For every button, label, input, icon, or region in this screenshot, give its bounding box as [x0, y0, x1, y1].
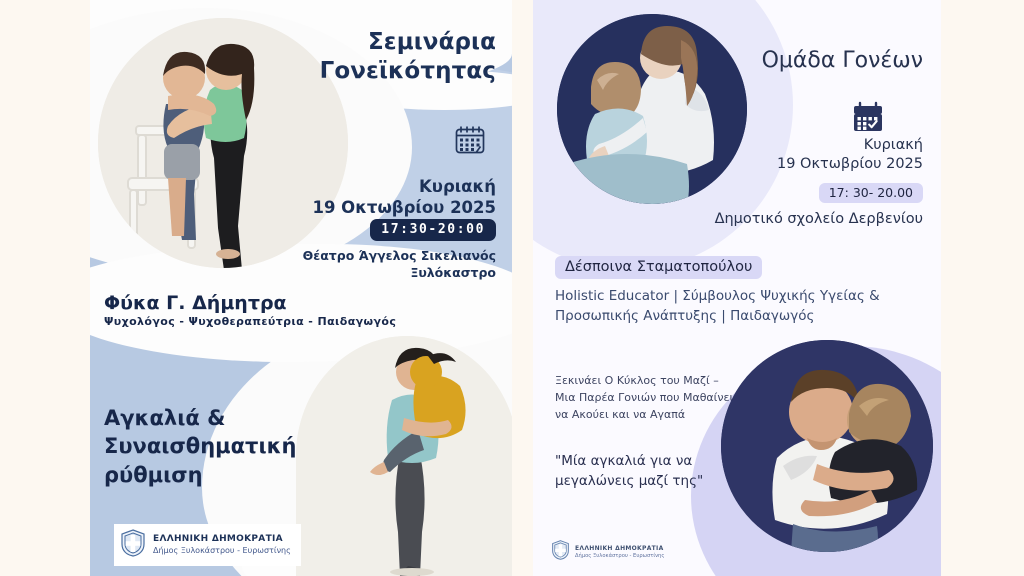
left-poster: Σεμινάρια Γονεϊκότητας: [90, 0, 512, 576]
poster-pair-canvas: Σεμινάρια Γονεϊκότητας: [0, 0, 1024, 576]
right-date-full: 19 Οκτωβρίου 2025: [683, 155, 923, 174]
right-poster-venue: Δημοτικό σχολείο Δερβενίου: [643, 211, 923, 227]
right-logo-line-2: Δήμος Ξυλοκάστρου - Ευρωστίνης: [575, 553, 664, 560]
left-logo-line-1: ΕΛΛΗΝΙΚΗ ΔΗΜΟΚΡΑΤΙΑ: [153, 534, 291, 545]
right-photo-mother-embracing-child: [557, 14, 747, 204]
right-role-line-1: Holistic Educator | Σύμβουλος Ψυχικής Υγ…: [555, 287, 885, 307]
greek-coat-of-arms-icon: [551, 540, 570, 564]
left-photo-parent-carrying-child: [296, 336, 512, 576]
left-poster-venue: Θέατρο Άγγελος Σικελιανός Ξυλόκαστρο: [246, 247, 496, 282]
right-date-weekday: Κυριακή: [683, 136, 923, 155]
left-poster-title: Σεμινάρια Γονεϊκότητας: [266, 28, 496, 85]
left-poster-municipality-logo: ΕΛΛΗΝΙΚΗ ΔΗΜΟΚΡΑΤΙΑ Δήμος Ξυλοκάστρου - …: [114, 524, 301, 566]
calendar-check-filled-icon: [851, 100, 885, 138]
right-poster-municipality-logo: ΕΛΛΗΝΙΚΗ ΔΗΜΟΚΡΑΤΙΑ Δήμος Ξυλοκάστρου - …: [551, 540, 664, 564]
right-poster-speaker-role: Holistic Educator | Σύμβουλος Ψυχικής Υγ…: [555, 287, 885, 326]
left-logo-text: ΕΛΛΗΝΙΚΗ ΔΗΜΟΚΡΑΤΙΑ Δήμος Ξυλοκάστρου - …: [153, 534, 291, 555]
right-logo-line-1: ΕΛΛΗΝΙΚΗ ΔΗΜΟΚΡΑΤΙΑ: [575, 545, 664, 553]
right-poster: Ομάδα Γονέων Κυριακή 19 Οκτωβρίου 2025 1…: [533, 0, 941, 576]
left-poster-speaker-name: Φύκα Γ. Δήμητρα: [104, 292, 404, 315]
right-photo-two-people-embracing: [721, 340, 933, 552]
right-desc-line-1: Ξεκινάει Ο Κύκλος του Μαζί –: [555, 372, 755, 389]
right-logo-text: ΕΛΛΗΝΙΚΗ ΔΗΜΟΚΡΑΤΙΑ Δήμος Ξυλοκάστρου - …: [575, 545, 664, 559]
left-poster-time-badge: 17:30-20:00: [370, 219, 496, 241]
left-poster-speaker-role: Ψυχολόγος - Ψυχοθεραπεύτρια - Παιδαγωγός: [104, 315, 424, 328]
left-date-full: 19 Οκτωβρίου 2025: [266, 197, 496, 218]
left-poster-date: Κυριακή 19 Οκτωβρίου 2025: [266, 176, 496, 218]
right-poster-speaker-name-badge: Δέσποινα Σταματοπούλου: [555, 256, 762, 279]
right-desc-line-2: Μια Παρέα Γονιών που Μαθαίνει: [555, 389, 755, 406]
left-title-line-1: Σεμινάρια: [266, 28, 496, 57]
right-poster-time-badge: 17: 30- 20.00: [819, 183, 923, 203]
right-poster-title: Ομάδα Γονέων: [693, 48, 923, 74]
left-date-weekday: Κυριακή: [266, 176, 496, 197]
greek-coat-of-arms-icon: [120, 529, 146, 561]
right-role-line-2: Προσωπικής Ανάπτυξης | Παιδαγωγός: [555, 307, 885, 327]
left-title-line-2: Γονεϊκότητας: [266, 57, 496, 86]
left-venue-line-2: Ξυλόκαστρο: [246, 264, 496, 281]
left-logo-line-2: Δήμος Ξυλοκάστρου - Ευρωστίνης: [153, 546, 291, 556]
calendar-outline-icon: [452, 122, 488, 162]
right-poster-date: Κυριακή 19 Οκτωβρίου 2025: [683, 136, 923, 174]
left-venue-line-1: Θέατρο Άγγελος Σικελιανός: [246, 247, 496, 264]
